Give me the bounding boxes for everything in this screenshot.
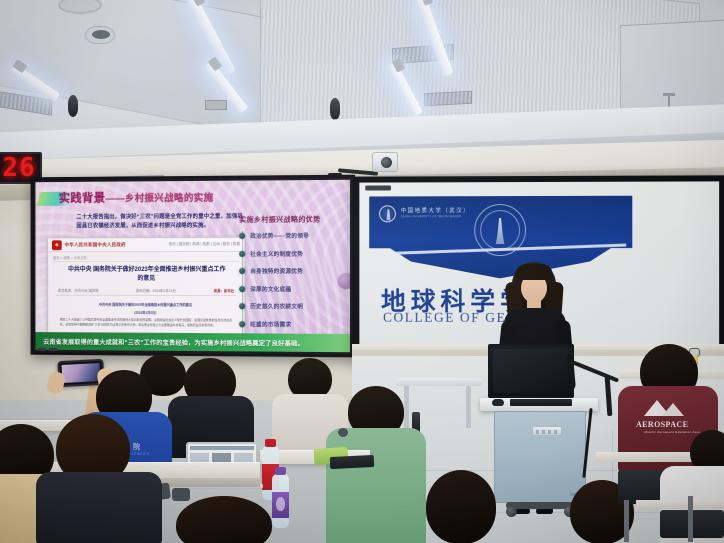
desk-knob <box>172 488 190 501</box>
slide-bottom-banner: 云南省发展取得的重大成就和“三农”工作的宝贵经验，为实施乡村振兴战略奠定了良好基… <box>35 332 350 352</box>
shirt-word-aerospace-sub: Atlantic Aerospace Education Assn. <box>644 430 701 434</box>
bezel-button[interactable] <box>49 348 58 351</box>
gov-doc-paragraph: 党的二十大擘画了以中国式现代化全面推进中华民族伟大复兴的宏伟蓝图。全面建设社会主… <box>60 318 232 328</box>
ceiling-speaker-icon <box>330 98 340 120</box>
caster-wheel <box>506 506 517 517</box>
bullet-dot-icon <box>239 321 245 327</box>
list-item: 自身独特的资源优势 <box>239 267 350 275</box>
mountain-icon <box>662 403 684 416</box>
left-projection-screen[interactable]: 实践背景——乡村振兴战略的实施 二十大报告指出，做决好“三农”问题是全党工作的重… <box>31 175 356 358</box>
shirt-word-aerospace: AEROSPACE <box>636 420 688 429</box>
chair-leg <box>688 496 693 542</box>
university-name-cn: 中国地质大学（武汉） <box>401 206 470 214</box>
notebook <box>330 455 375 469</box>
bullet-label: 自身独特的资源优势 <box>250 267 303 275</box>
slide-title-dash: —— <box>105 193 125 204</box>
ceiling-hook-icon <box>668 95 670 107</box>
gov-doc-title: 中共中央 国务院关于做好2023年全面推进乡村振兴重点工作的意见 <box>68 266 226 284</box>
gov-doc-nav: 首页 | 国务院 | 新闻 | 政策 | 互动 | 服务 | 数据 <box>169 242 241 247</box>
audience-torso <box>326 428 426 543</box>
mouse[interactable] <box>492 399 504 406</box>
bullet-dot-icon <box>239 286 245 292</box>
desk-knob <box>338 428 348 437</box>
chair-leg <box>624 500 629 542</box>
water-bottle-purple-label <box>272 474 289 528</box>
bullet-dot-icon <box>239 250 245 256</box>
gov-doc-meta-right: 来源：新华社 <box>214 288 234 293</box>
university-name-en: CHINA UNIVERSITY OF GEOSCIENCES <box>401 214 462 218</box>
list-item: 深厚的文化底蕴 <box>239 285 350 293</box>
slide-canvas: 实践背景——乡村振兴战略的实施 二十大报告指出，做决好“三农”问题是全党工作的重… <box>35 180 350 352</box>
slide-body-text: 二十大报告指出，做决好“三农”问题是全党工作的重中之重，加强巩固县已农镇经济发展… <box>76 213 247 232</box>
smartphone-screen <box>62 363 101 383</box>
lectern-body-panel <box>494 411 586 503</box>
side-table-leg <box>466 386 471 428</box>
side-table-leg <box>404 386 409 434</box>
bullet-dot-icon <box>239 303 245 309</box>
power-strip[interactable] <box>532 426 562 436</box>
smoke-detector-icon <box>85 26 115 44</box>
bezel-button[interactable] <box>37 348 46 351</box>
slide-decor-orb <box>338 273 350 289</box>
bullet-label: 历史悠久的农耕文明 <box>250 302 303 310</box>
audience-torso <box>36 472 162 543</box>
slide-column-heading: 实施乡村振兴战略的优势 <box>239 214 350 225</box>
gov-doc-subhead: 中共中央 国务院关于做好2023年全面推进乡村振兴重点工作的意见 <box>60 303 232 308</box>
bullet-dot-icon <box>239 233 245 239</box>
bottle-label <box>272 492 289 518</box>
bullet-label: 旺盛的市场需求 <box>250 320 291 328</box>
slide-title-main: 实践背景 <box>59 193 106 205</box>
gov-doc-meta-left: 发文机关：中共中央 国务院 <box>58 288 99 293</box>
ceiling-camera-icon <box>372 152 398 172</box>
gov-doc-meta: 发文机关：中共中央 国务院 发布日期：2023年2月13日 来源：新华社 <box>58 288 234 293</box>
display-tab-indicator <box>365 185 391 190</box>
gov-document-image: 中华人民共和国中央人民政府 首页 | 国务院 | 新闻 | 政策 | 互动 | … <box>47 237 245 348</box>
slide-title: 实践背景——乡村振兴战略的实施 <box>59 189 214 206</box>
bullet-label: 深厚的文化底蕴 <box>250 285 291 293</box>
bullet-label: 政治优势——党的领导 <box>250 232 309 240</box>
ceiling-panel-left <box>0 0 290 142</box>
slide-banner-text: 云南省发展取得的重大成就和“三农”工作的宝贵经验，为实施乡村振兴战略奠定了良好基… <box>43 337 304 348</box>
list-item: 旺盛的市场需求 <box>239 320 350 329</box>
slide-title-sub: 乡村振兴战略的实施 <box>125 193 214 205</box>
list-item: 历史悠久的农耕文明 <box>239 302 350 310</box>
desk-right-front <box>636 500 724 509</box>
bullet-label: 社会主义的制度优势 <box>250 249 303 257</box>
keyboard[interactable] <box>510 399 572 406</box>
national-emblem-icon <box>52 240 62 250</box>
side-table <box>396 378 482 386</box>
ceiling-speaker-icon <box>68 95 78 117</box>
gov-doc-divider <box>53 261 239 262</box>
list-item: 政治优势——党的领导 <box>239 232 350 240</box>
audience-head <box>426 470 496 543</box>
lectern-monitor[interactable] <box>488 344 574 398</box>
bullet-rail <box>242 231 243 333</box>
bottle-cap <box>265 439 276 447</box>
screen-bezel-buttons[interactable] <box>37 348 57 351</box>
gov-doc-subhead2: （2023年1月2日） <box>60 310 232 315</box>
slide-bullet-column: 实施乡村振兴战略的优势 政治优势——党的领导 社会主义的制度优势 自身独特的资源… <box>239 214 350 338</box>
presenter-fringe <box>515 264 553 280</box>
air-vent <box>424 91 472 107</box>
gov-doc-header: 中华人民共和国中央人民政府 首页 | 国务院 | 新闻 | 政策 | 互动 | … <box>48 238 244 252</box>
projector-mount <box>205 100 227 110</box>
gov-doc-breadcrumb: 首页 > 政策 > 中央文件 <box>53 255 87 260</box>
gov-doc-meta-mid: 发布日期：2023年2月13日 <box>136 288 176 293</box>
list-item: 社会主义的制度优势 <box>239 249 350 257</box>
lecture-photo-scene: 26 实践背景——乡村振兴战略的实施 二十大报告指出，做决好“三农”问题是全党工… <box>0 0 724 543</box>
gov-site-name: 中华人民共和国中央人民政府 <box>65 242 126 248</box>
university-logo-icon <box>379 205 396 222</box>
bottle-cap <box>275 467 286 475</box>
bullet-dot-icon <box>239 268 245 274</box>
gov-doc-rule <box>56 295 236 296</box>
gov-doc-body: 中共中央 国务院关于做好2023年全面推进乡村振兴重点工作的意见 （2023年1… <box>60 300 232 328</box>
